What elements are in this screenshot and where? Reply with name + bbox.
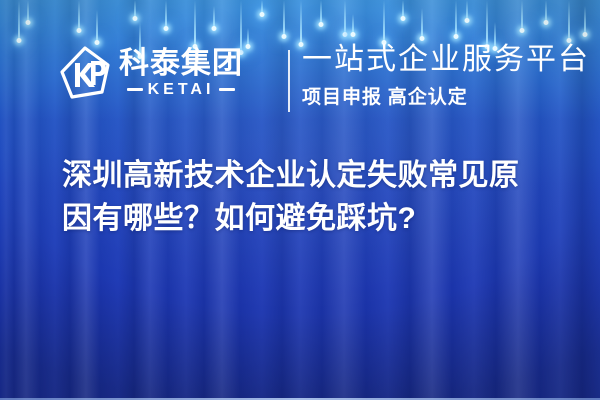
light-streak-icon xyxy=(455,0,457,36)
light-streak-icon xyxy=(18,0,20,40)
dash-left-icon xyxy=(127,88,143,91)
slogan-sub: 项目申报 高企认定 xyxy=(302,82,590,109)
company-name-en: KETAI xyxy=(148,82,215,98)
light-streak-icon xyxy=(96,10,98,42)
light-streak-icon xyxy=(78,0,80,30)
kp-monogram-icon xyxy=(58,44,112,102)
slogan-block: 一站式企业服务平台 项目申报 高企认定 xyxy=(302,42,590,109)
company-name-en-row: KETAI xyxy=(127,82,236,98)
light-streak-icon xyxy=(521,0,523,30)
light-streak-icon xyxy=(300,0,302,44)
light-streak-icon xyxy=(402,0,404,18)
light-streak-icon xyxy=(134,0,136,18)
light-streak-icon xyxy=(466,0,468,20)
dash-right-icon xyxy=(219,88,235,91)
brand-text: 科泰集团 KETAI xyxy=(119,48,243,98)
light-streak-icon xyxy=(165,0,167,28)
light-streak-icon xyxy=(584,6,586,34)
promo-banner: 科泰集团 KETAI 一站式企业服务平台 项目申报 高企认定 深圳高新技术企业认… xyxy=(0,0,600,400)
light-streak-icon xyxy=(27,0,29,22)
light-streak-icon xyxy=(213,6,215,28)
company-name-cn: 科泰集团 xyxy=(119,48,243,80)
brand-logo[interactable]: 科泰集团 KETAI xyxy=(58,44,243,102)
light-streak-icon xyxy=(344,0,346,34)
light-streak-icon xyxy=(261,0,263,14)
headline-line-2: 因有哪些？如何避免踩坑? xyxy=(62,197,562,240)
header-divider xyxy=(288,50,290,112)
light-streak-icon xyxy=(283,0,285,36)
light-streak-icon xyxy=(352,14,354,34)
headline: 深圳高新技术企业认定失败常见原 因有哪些？如何避免踩坑? xyxy=(62,154,562,240)
light-streak-icon xyxy=(320,0,322,24)
light-streak-icon xyxy=(421,8,423,38)
banner-header: 科泰集团 KETAI 一站式企业服务平台 项目申报 高企认定 xyxy=(0,40,600,118)
slogan-main: 一站式企业服务平台 xyxy=(302,42,590,77)
light-streak-icon xyxy=(545,0,547,22)
light-streak-icon xyxy=(383,0,385,42)
light-streak-icon xyxy=(568,0,570,40)
headline-line-1: 深圳高新技术企业认定失败常见原 xyxy=(62,154,562,197)
